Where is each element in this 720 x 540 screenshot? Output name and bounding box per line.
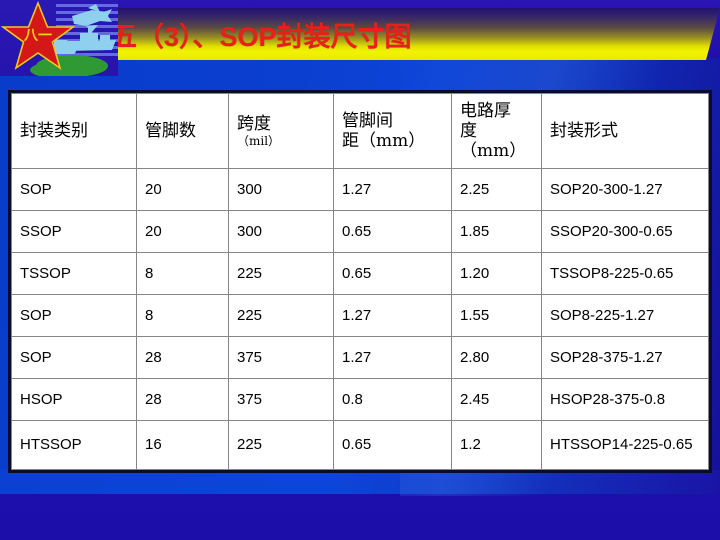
- header-line2: 距（mm）: [342, 131, 443, 151]
- table-row: TSSOP 8 225 0.65 1.20 TSSOP8-225-0.65: [12, 253, 709, 295]
- cell-span: 225: [229, 421, 334, 470]
- header-line1: 封装类别: [20, 121, 128, 141]
- table-header-pin-pitch: 管脚间 距（mm）: [334, 94, 452, 169]
- star-bayi-text: 八一: [23, 28, 52, 44]
- cell-thickness: 2.25: [452, 169, 542, 211]
- header-line1: 管脚数: [145, 121, 220, 141]
- header-line1: 管脚间: [342, 111, 443, 131]
- header-line2: 度（mm）: [460, 121, 533, 161]
- cell-pin-pitch: 1.27: [334, 295, 452, 337]
- cell-span: 375: [229, 379, 334, 421]
- cell-package-form: HSOP28-375-0.8: [542, 379, 709, 421]
- table-header-span: 跨度 （mil）: [229, 94, 334, 169]
- title-banner: 五（3）、SOP封装尺寸图: [60, 8, 720, 60]
- cell-pin-pitch: 1.27: [334, 169, 452, 211]
- table-header-row: 封装类别 管脚数 跨度 （mil） 管脚间 距（mm） 电路厚: [12, 94, 709, 169]
- logo-artwork: 八一: [0, 0, 118, 76]
- header-line1: 封装形式: [550, 121, 700, 141]
- cell-span: 300: [229, 211, 334, 253]
- cell-thickness: 2.45: [452, 379, 542, 421]
- cell-pin-count: 8: [137, 253, 229, 295]
- sop-package-dimensions-table: 封装类别 管脚数 跨度 （mil） 管脚间 距（mm） 电路厚: [8, 90, 712, 473]
- table-row: HTSSOP 16 225 0.65 1.2 HTSSOP14-225-0.65: [12, 421, 709, 470]
- cell-package-type: HTSSOP: [12, 421, 137, 470]
- cell-pin-pitch: 0.8: [334, 379, 452, 421]
- table-row: SOP 8 225 1.27 1.55 SOP8-225-1.27: [12, 295, 709, 337]
- table-header-package-form: 封装形式: [542, 94, 709, 169]
- table-row: SSOP 20 300 0.65 1.85 SSOP20-300-0.65: [12, 211, 709, 253]
- cell-package-form: SOP8-225-1.27: [542, 295, 709, 337]
- cell-package-type: SOP: [12, 169, 137, 211]
- cell-package-type: SSOP: [12, 211, 137, 253]
- cell-package-form: SSOP20-300-0.65: [542, 211, 709, 253]
- terrain-icon: [30, 55, 108, 76]
- table-header-pin-count: 管脚数: [137, 94, 229, 169]
- cell-package-type: SOP: [12, 337, 137, 379]
- cell-pin-count: 8: [137, 295, 229, 337]
- cell-span: 225: [229, 295, 334, 337]
- header-line1: 电路厚: [460, 101, 533, 121]
- cell-span: 225: [229, 253, 334, 295]
- cell-span: 375: [229, 337, 334, 379]
- cell-span: 300: [229, 169, 334, 211]
- slide-title: 五（3）、SOP封装尺寸图: [60, 8, 720, 60]
- header-line2: （mil）: [237, 134, 325, 148]
- table-row: SOP 28 375 1.27 2.80 SOP28-375-1.27: [12, 337, 709, 379]
- cell-package-form: TSSOP8-225-0.65: [542, 253, 709, 295]
- cell-thickness: 1.55: [452, 295, 542, 337]
- cell-thickness: 1.20: [452, 253, 542, 295]
- cell-thickness: 2.80: [452, 337, 542, 379]
- cell-thickness: 1.2: [452, 421, 542, 470]
- cell-package-form: HTSSOP14-225-0.65: [542, 421, 709, 470]
- cell-pin-pitch: 0.65: [334, 253, 452, 295]
- cell-pin-count: 20: [137, 211, 229, 253]
- cell-package-form: SOP28-375-1.27: [542, 337, 709, 379]
- cell-pin-count: 28: [137, 379, 229, 421]
- cell-package-type: TSSOP: [12, 253, 137, 295]
- cell-thickness: 1.85: [452, 211, 542, 253]
- table-header-thickness: 电路厚 度（mm）: [452, 94, 542, 169]
- slide-background-bottom: [0, 494, 720, 540]
- presentation-slide: 五（3）、SOP封装尺寸图: [0, 0, 720, 540]
- cell-pin-count: 20: [137, 169, 229, 211]
- table-header-package-type: 封装类别: [12, 94, 137, 169]
- cell-pin-count: 28: [137, 337, 229, 379]
- table-row: HSOP 28 375 0.8 2.45 HSOP28-375-0.8: [12, 379, 709, 421]
- cell-package-type: HSOP: [12, 379, 137, 421]
- table-row: SOP 20 300 1.27 2.25 SOP20-300-1.27: [12, 169, 709, 211]
- cell-package-type: SOP: [12, 295, 137, 337]
- cell-pin-pitch: 1.27: [334, 337, 452, 379]
- cell-pin-pitch: 0.65: [334, 211, 452, 253]
- cell-pin-pitch: 0.65: [334, 421, 452, 470]
- cell-package-form: SOP20-300-1.27: [542, 169, 709, 211]
- pla-emblem-logo: 八一: [0, 0, 118, 76]
- slide-background-lower-band: [0, 470, 720, 496]
- cell-pin-count: 16: [137, 421, 229, 470]
- header-line1: 跨度: [237, 114, 325, 134]
